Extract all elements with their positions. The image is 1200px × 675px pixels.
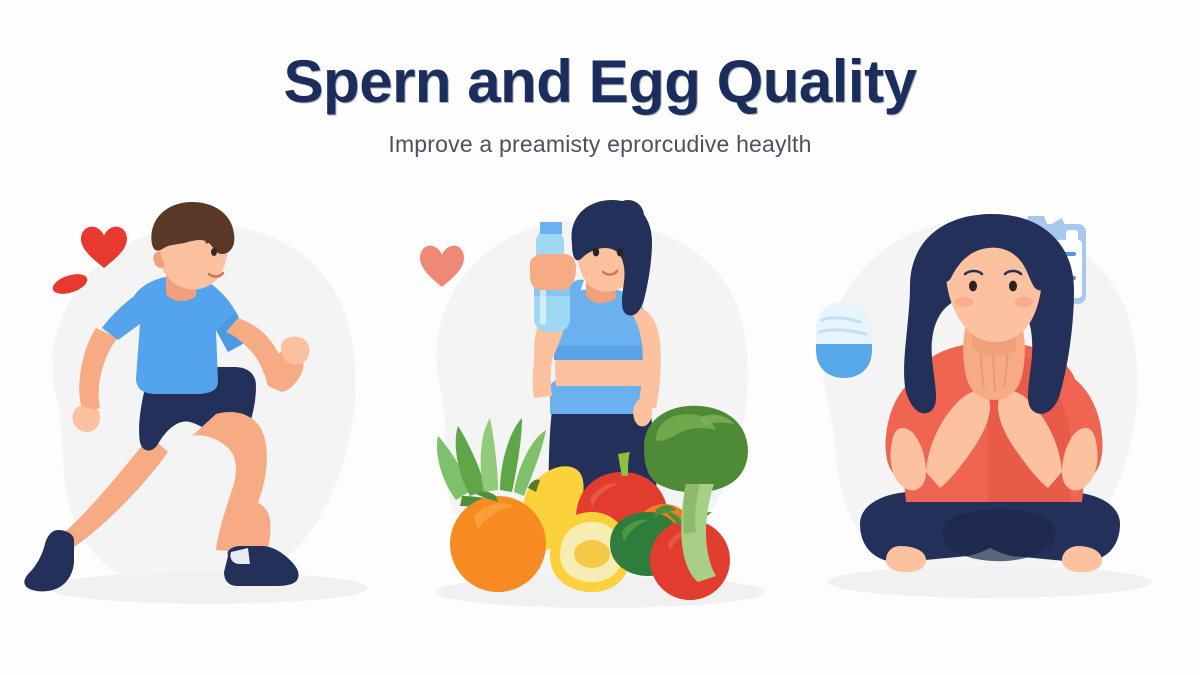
eye-left <box>969 281 977 292</box>
illustration-row <box>0 200 1200 670</box>
leg-shade <box>942 509 1056 561</box>
heart-icon <box>420 246 464 287</box>
eye <box>211 248 217 256</box>
ground-shadow <box>48 572 368 604</box>
panel-wellness <box>800 200 1200 670</box>
running-man-illustration <box>0 200 400 670</box>
woman-with-water-and-vegetables-illustration <box>400 200 800 670</box>
cheek-left <box>955 297 973 307</box>
water-glass-icon <box>816 302 872 378</box>
meditating-woman-illustration <box>800 200 1200 670</box>
cheek-right <box>1015 297 1033 307</box>
eye-left <box>593 248 599 257</box>
page-title: Spern and Egg Quality <box>0 0 1200 113</box>
eye-right <box>1009 281 1017 292</box>
slide-canvas: Spern and Egg Quality Improve a preamist… <box>0 0 1200 675</box>
eye-right <box>617 248 623 257</box>
panel-exercise <box>0 200 400 670</box>
header: Spern and Egg Quality Improve a preamist… <box>0 0 1200 158</box>
left-hand <box>530 254 576 290</box>
page-subtitle: Improve a preamisty eprorcudive heaylth <box>0 113 1200 158</box>
panel-nutrition <box>400 200 800 670</box>
sports-bra-band <box>554 346 646 360</box>
bottle-cap <box>540 222 562 234</box>
ground-shadow <box>828 566 1152 598</box>
pear-core <box>574 540 610 568</box>
